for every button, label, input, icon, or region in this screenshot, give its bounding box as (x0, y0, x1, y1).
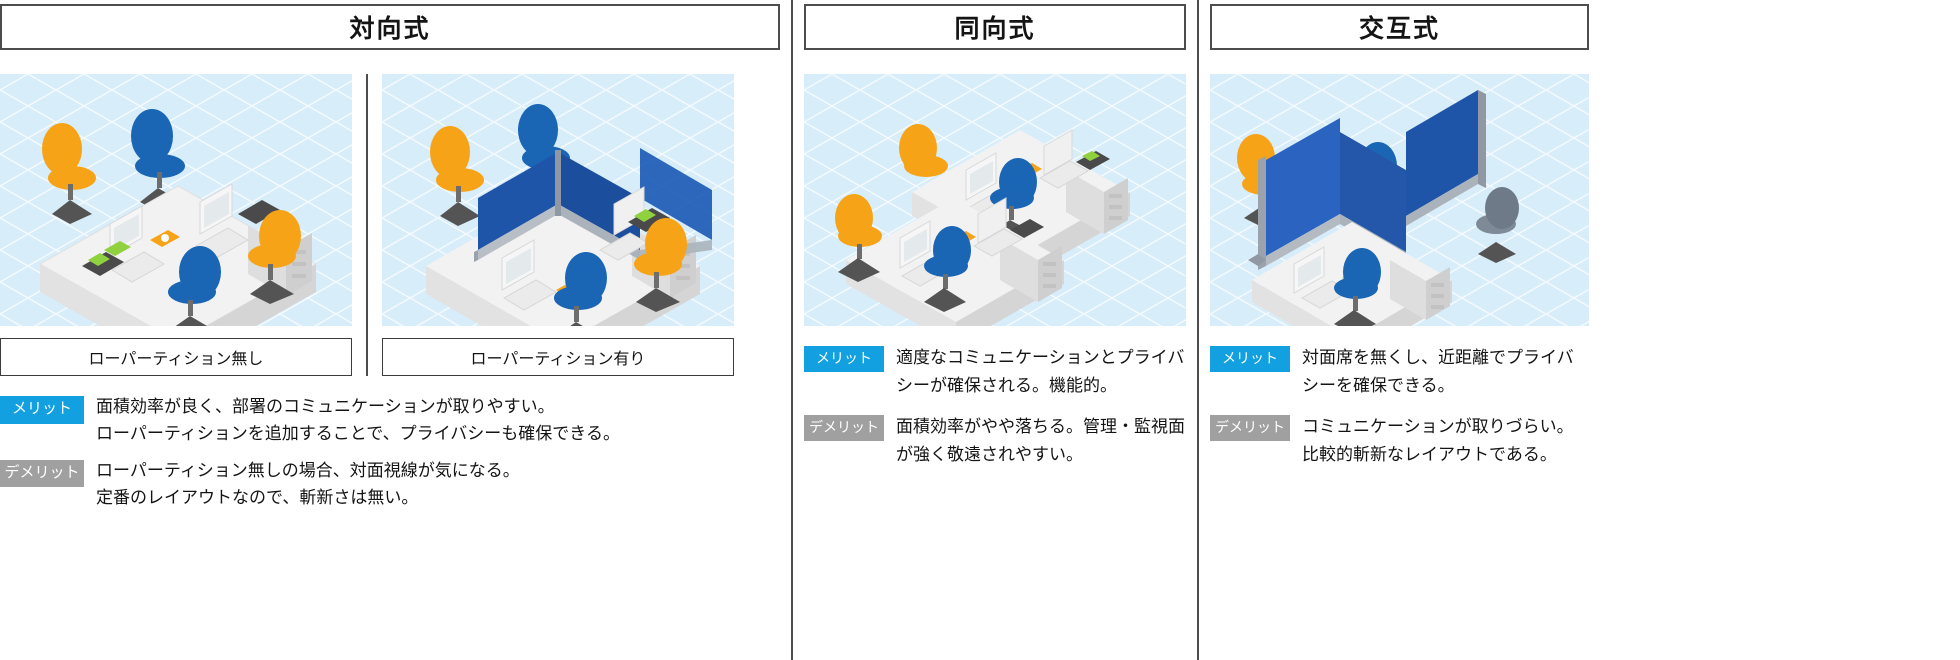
illustration-cell-with-partition: ローパーティション有り (382, 74, 734, 376)
note-merit-1: メリット 面積効率が良く、部署のコミュニケーションが取りやすい。 ローパーティシ… (0, 394, 780, 448)
note-text-demerit: 面積効率がやや落ちる。管理・監視面が強く敬遠されやすい。 (896, 413, 1186, 468)
note-demerit-2: デメリット 面積効率がやや落ちる。管理・監視面が強く敬遠されやすい。 (804, 413, 1186, 468)
illustration-row-1: ローパーティション無し (0, 74, 780, 376)
panel-taikoushiki: 対向式 (0, 0, 780, 660)
office-layout-alternating (1210, 74, 1589, 326)
panel-kougoshiki: 交互式 (1210, 0, 1589, 660)
note-text-merit: 面積効率が良く、部署のコミュニケーションが取りやすい。 ローパーティションを追加… (96, 394, 620, 448)
office-layout-facing-with-partition (382, 74, 734, 326)
inner-divider (366, 74, 368, 376)
status-badge-merit: メリット (0, 396, 84, 424)
note-line: 適度なコミュニケーションとプライバシーが確保される。機能的。 (896, 344, 1186, 399)
caption-box-no-partition: ローパーティション無し (0, 338, 352, 376)
caption-text: ローパーティション無し (89, 345, 264, 369)
notes-list-3: メリット 対面席を無くし、近距離でプライバシーを確保できる。 デメリット コミュ… (1210, 344, 1589, 482)
note-merit-3: メリット 対面席を無くし、近距離でプライバシーを確保できる。 (1210, 344, 1589, 399)
note-line: ローパーティション無しの場合、対面視線が気になる。 (96, 458, 520, 485)
status-badge-merit: メリット (804, 346, 884, 372)
note-line: コミュニケーションが取りづらい。比較的斬新なレイアウトである。 (1302, 413, 1589, 468)
caption-text: ローパーティション有り (471, 345, 646, 369)
status-badge-demerit: デメリット (1210, 415, 1290, 441)
illustration-cell-no-partition: ローパーティション無し (0, 74, 352, 376)
office-layout-facing-no-partition (0, 74, 352, 326)
note-line: 面積効率が良く、部署のコミュニケーションが取りやすい。 (96, 394, 620, 421)
note-line: 面積効率がやや落ちる。管理・監視面が強く敬遠されやすい。 (896, 413, 1186, 468)
note-line: ローパーティションを追加することで、プライバシーも確保できる。 (96, 421, 620, 448)
note-demerit-1: デメリット ローパーティション無しの場合、対面視線が気になる。 定番のレイアウト… (0, 458, 780, 512)
panel-divider-1 (791, 0, 793, 660)
status-badge-demerit: デメリット (0, 460, 84, 488)
panel-title-box-2: 同向式 (804, 4, 1186, 50)
note-line: 対面席を無くし、近距離でプライバシーを確保できる。 (1302, 344, 1589, 399)
status-badge-demerit: デメリット (804, 415, 884, 441)
page-title-3: 交互式 (1359, 9, 1440, 45)
note-line: 定番のレイアウトなので、斬新さは無い。 (96, 485, 520, 512)
notes-list-1: メリット 面積効率が良く、部署のコミュニケーションが取りやすい。 ローパーティシ… (0, 394, 780, 521)
note-text-demerit: ローパーティション無しの場合、対面視線が気になる。 定番のレイアウトなので、斬新… (96, 458, 520, 512)
panel-divider-2 (1197, 0, 1199, 660)
note-demerit-3: デメリット コミュニケーションが取りづらい。比較的斬新なレイアウトである。 (1210, 413, 1589, 468)
panel-title-box-3: 交互式 (1210, 4, 1589, 50)
status-badge-merit: メリット (1210, 346, 1290, 372)
panel-title-box-1: 対向式 (0, 4, 780, 50)
page-title-2: 同向式 (954, 9, 1035, 45)
illustration-row-2 (804, 74, 1186, 326)
note-text-demerit: コミュニケーションが取りづらい。比較的斬新なレイアウトである。 (1302, 413, 1589, 468)
notes-list-2: メリット 適度なコミュニケーションとプライバシーが確保される。機能的。 デメリッ… (804, 344, 1186, 482)
page-title-1: 対向式 (349, 9, 430, 45)
note-text-merit: 対面席を無くし、近距離でプライバシーを確保できる。 (1302, 344, 1589, 399)
office-layout-same-direction (804, 74, 1186, 326)
panel-doukoushiki: 同向式 (804, 0, 1186, 660)
note-text-merit: 適度なコミュニケーションとプライバシーが確保される。機能的。 (896, 344, 1186, 399)
caption-box-with-partition: ローパーティション有り (382, 338, 734, 376)
note-merit-2: メリット 適度なコミュニケーションとプライバシーが確保される。機能的。 (804, 344, 1186, 399)
illustration-row-3 (1210, 74, 1589, 326)
office-layout-comparison-board: 対向式 (0, 0, 1960, 660)
